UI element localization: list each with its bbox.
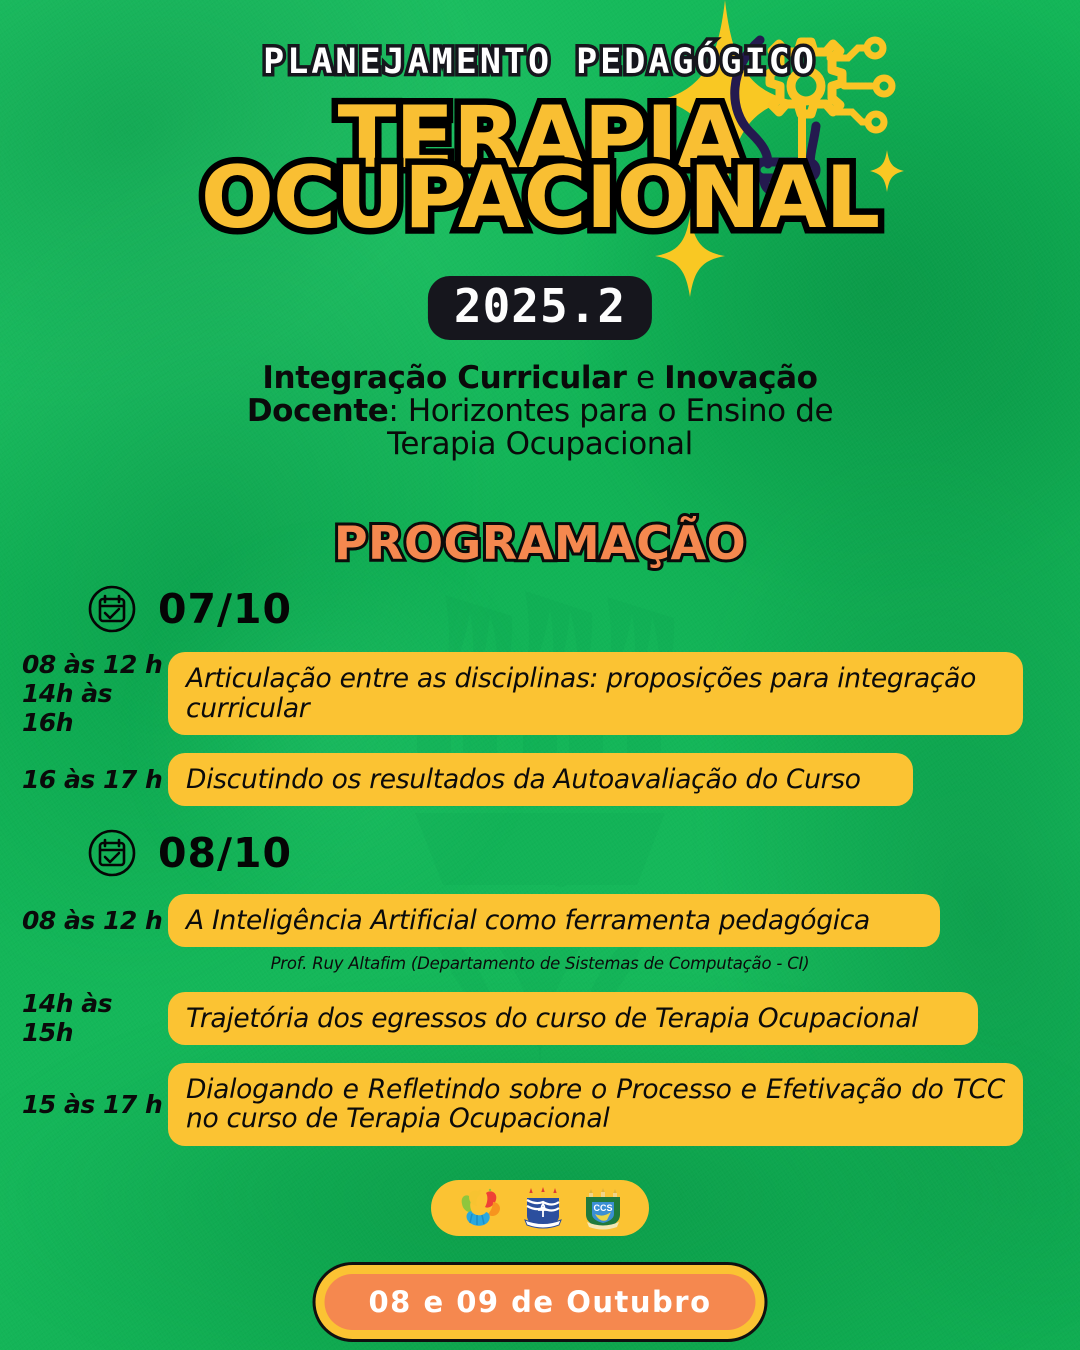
session-time-line: 16 às 17 h — [22, 765, 168, 794]
partner-logos-bar: CCS — [431, 1180, 649, 1236]
session-time-line: 08 às 12 h — [22, 906, 168, 935]
poster-title-line2: OCUPACIONAL — [0, 148, 1080, 248]
session-time-line: 08 às 12 h — [22, 650, 168, 679]
term-badge: 2025.2 — [428, 276, 652, 340]
session-row: 08 às 12 hA Inteligência Artificial como… — [0, 894, 1080, 947]
session-title-pill: Discutindo os resultados da Autoavaliaçã… — [168, 753, 913, 806]
svg-text:CCS: CCS — [593, 1203, 612, 1213]
session-title-pill: Dialogando e Refletindo sobre o Processo… — [168, 1063, 1023, 1145]
session-row: 08 às 12 h14h às 16hArticulação entre as… — [0, 650, 1080, 737]
poster-subtitle: Integração Curricular e Inovação Docente… — [210, 362, 870, 461]
session-row: 16 às 17 hDiscutindo os resultados da Au… — [0, 753, 1080, 806]
day-date-label: 08/10 — [158, 829, 292, 877]
schedule-list: 07/1008 às 12 h14h às 16hArticulação ent… — [0, 578, 1080, 1146]
day-date-label: 07/10 — [158, 585, 292, 633]
session-title-pill: Trajetória dos egressos do curso de Tera… — [168, 992, 978, 1045]
session-time: 08 às 12 h — [0, 906, 168, 935]
day-header: 08/10 — [0, 822, 1080, 884]
session-time-line: 15 às 17 h — [22, 1090, 168, 1119]
session-speaker: Prof. Ruy Altafim (Departamento de Siste… — [0, 954, 1080, 973]
poster-canvas: SCIENTIA ERUDIT — [0, 0, 1080, 1350]
poster-header: PLANEJAMENTO PEDAGÓGICO TERAPIA OCUPACIO… — [0, 0, 1080, 355]
kicker-text: PLANEJAMENTO PEDAGÓGICO — [0, 42, 1080, 82]
session-title-pill: Articulação entre as disciplinas: propos… — [168, 652, 1023, 734]
subtitle-rest: : Horizontes para o Ensino de Terapia Oc… — [387, 393, 833, 462]
session-time: 15 às 17 h — [0, 1090, 168, 1119]
section-title-programacao: PROGRAMAÇÃO — [0, 516, 1080, 570]
session-time-line: 14h às 15h — [22, 989, 168, 1047]
session-time: 14h às 15h — [0, 989, 168, 1047]
day-header: 07/10 — [0, 578, 1080, 640]
session-time: 16 às 17 h — [0, 765, 168, 794]
calendar-check-icon — [88, 585, 136, 633]
event-date-badge: 08 e 09 de Outubro — [325, 1274, 756, 1330]
session-time: 08 às 12 h14h às 16h — [0, 650, 168, 737]
session-title-pill: A Inteligência Artificial como ferrament… — [168, 894, 940, 947]
subtitle-conjunction: e — [627, 360, 665, 396]
session-time-line: 14h às 16h — [22, 679, 168, 737]
session-row: 14h às 15hTrajetória dos egressos do cur… — [0, 989, 1080, 1047]
subtitle-bold-part-1: Integração Curricular — [262, 360, 626, 396]
calendar-check-icon — [88, 829, 136, 877]
therapy-hands-logo — [457, 1188, 503, 1228]
ufpb-crest-logo — [523, 1186, 563, 1230]
session-row: 15 às 17 hDialogando e Refletindo sobre … — [0, 1063, 1080, 1145]
ccs-crest-logo: CCS — [583, 1186, 623, 1230]
